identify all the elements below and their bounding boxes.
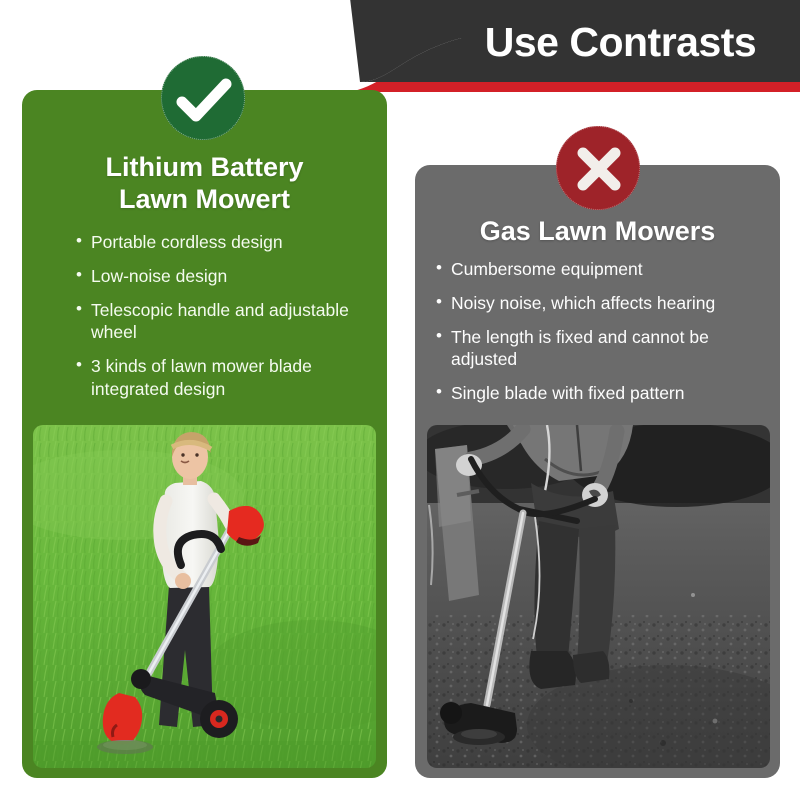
page-title: Use Contrasts <box>448 14 793 70</box>
list-item: Cumbersome equipment <box>436 258 766 281</box>
con-drawback-list: Cumbersome equipment Noisy noise, which … <box>436 258 766 416</box>
list-item: Portable cordless design <box>76 231 376 254</box>
infographic-page: Use Contrasts Lithium Battery Lawn Mower… <box>0 0 800 800</box>
con-product-photo <box>427 425 770 768</box>
pro-title-line-2: Lawn Mowert <box>42 184 367 216</box>
check-circle-icon <box>161 56 245 140</box>
pro-benefit-list: Portable cordless design Low-noise desig… <box>76 231 376 412</box>
list-item: The length is fixed and cannot be adjust… <box>436 326 766 372</box>
pro-card-title: Lithium Battery Lawn Mowert <box>22 152 387 216</box>
pro-title-line-1: Lithium Battery <box>42 152 367 184</box>
list-item: Noisy noise, which affects hearing <box>436 292 766 315</box>
cross-circle-icon <box>556 126 640 210</box>
list-item: 3 kinds of lawn mower blade integrated d… <box>76 355 376 401</box>
list-item: Low-noise design <box>76 265 376 288</box>
pro-product-photo <box>33 425 376 768</box>
con-card-title: Gas Lawn Mowers <box>415 216 780 248</box>
list-item: Single blade with fixed pattern <box>436 382 766 405</box>
list-item: Telescopic handle and adjustable wheel <box>76 299 376 345</box>
